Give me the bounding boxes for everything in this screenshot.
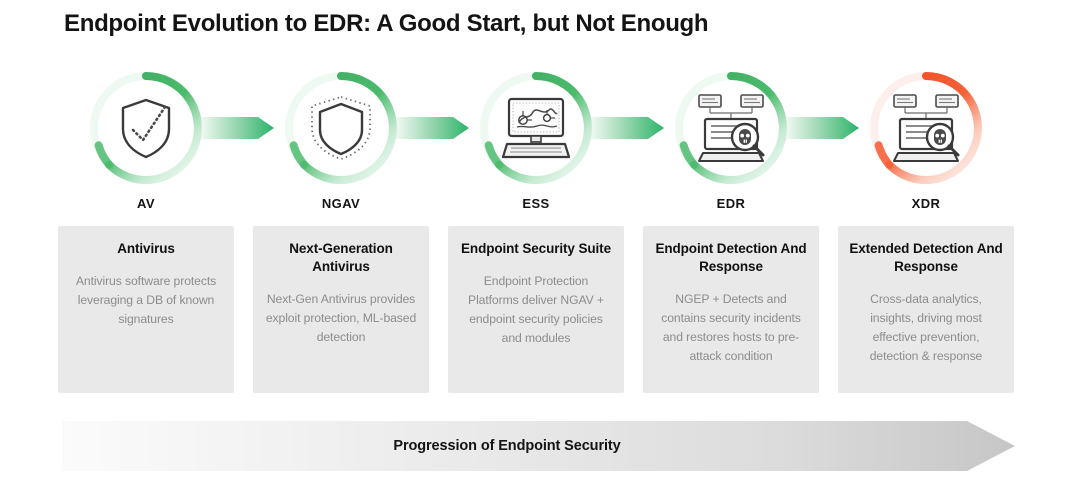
infographic-root: Endpoint Evolution to EDR: A Good Start,… — [0, 0, 1066, 492]
card-title-ess: Endpoint Security Suite — [461, 240, 611, 258]
page-title: Endpoint Evolution to EDR: A Good Start,… — [64, 10, 708, 38]
shield-dotted-icon — [301, 88, 381, 168]
card-body-xdr: Cross-data analytics, insights, driving … — [848, 290, 1004, 366]
card-edr[interactable]: Endpoint Detection And Response NGEP + D… — [643, 226, 819, 393]
card-title-ngav: Next-Generation Antivirus — [263, 240, 419, 276]
stage-edr[interactable]: EDR — [663, 60, 799, 196]
monitor-magnifier-threat-icon — [691, 88, 771, 168]
stage-label-xdr: XDR — [858, 196, 994, 211]
monitor-network-icon — [496, 88, 576, 168]
stage-xdr[interactable]: XDR — [858, 60, 994, 196]
shield-check-icon — [106, 88, 186, 168]
card-title-edr: Endpoint Detection And Response — [653, 240, 809, 276]
stage-label-ngav: NGAV — [273, 196, 409, 211]
card-ngav[interactable]: Next-Generation Antivirus Next-Gen Antiv… — [253, 226, 429, 393]
card-body-ngav: Next-Gen Antivirus provides exploit prot… — [263, 290, 419, 347]
card-xdr[interactable]: Extended Detection And Response Cross-da… — [838, 226, 1014, 393]
progression-banner-label: Progression of Endpoint Security — [62, 421, 952, 471]
card-title-av: Antivirus — [117, 240, 175, 258]
stage-label-av: AV — [78, 196, 214, 211]
card-ess[interactable]: Endpoint Security Suite Endpoint Protect… — [448, 226, 624, 393]
stage-label-edr: EDR — [663, 196, 799, 211]
card-title-xdr: Extended Detection And Response — [848, 240, 1004, 276]
card-row: Antivirus Antivirus software protects le… — [0, 226, 1066, 396]
stage-ngav[interactable]: NGAV — [273, 60, 409, 196]
stage-row: AV — [0, 60, 1066, 210]
stage-label-ess: ESS — [468, 196, 604, 211]
card-body-edr: NGEP + Detects and contains security inc… — [653, 290, 809, 366]
card-av[interactable]: Antivirus Antivirus software protects le… — [58, 226, 234, 393]
card-body-av: Antivirus software protects leveraging a… — [68, 272, 224, 329]
stage-ess[interactable]: ESS — [468, 60, 604, 196]
stage-av[interactable]: AV — [78, 60, 214, 196]
card-body-ess: Endpoint Protection Platforms deliver NG… — [458, 272, 614, 348]
monitor-magnifier-threat-icon — [886, 88, 966, 168]
progression-banner: Progression of Endpoint Security — [62, 421, 1015, 471]
